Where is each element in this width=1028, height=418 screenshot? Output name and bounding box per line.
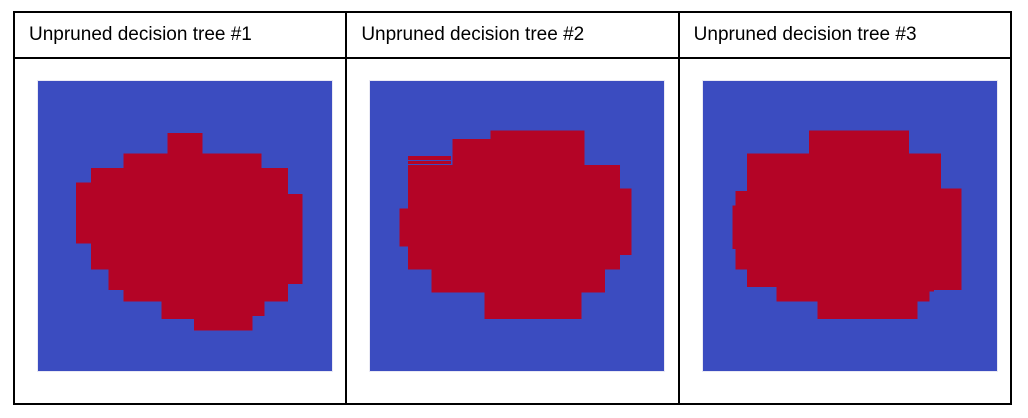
table-row — [14, 58, 1011, 404]
plot-canvas-3 — [703, 81, 997, 371]
column-header-tree-1: Unpruned decision tree #1 — [14, 12, 346, 58]
decision-boundary-plot-1 — [37, 80, 333, 372]
column-header-tree-3: Unpruned decision tree #3 — [679, 12, 1011, 58]
table-header: Unpruned decision tree #1 Unpruned decis… — [14, 12, 1011, 58]
decision-region-svg-1 — [38, 81, 332, 371]
decision-boundary-plot-2 — [369, 80, 665, 372]
table-header-row: Unpruned decision tree #1 Unpruned decis… — [14, 12, 1011, 58]
table-body — [14, 58, 1011, 404]
overfit-sliver-region — [409, 161, 452, 164]
figure-root: Unpruned decision tree #1 Unpruned decis… — [0, 0, 1028, 418]
plot-cell-tree-3 — [679, 58, 1011, 404]
plot-container-tree-2 — [347, 59, 677, 401]
plot-cell-tree-1 — [14, 58, 346, 404]
column-header-tree-2: Unpruned decision tree #2 — [346, 12, 678, 58]
decision-region-svg-2 — [370, 81, 664, 371]
decision-tree-comparison-table: Unpruned decision tree #1 Unpruned decis… — [13, 11, 1012, 405]
plot-container-tree-3 — [680, 59, 1010, 401]
overfit-sliver-region — [409, 156, 452, 160]
plot-canvas-1 — [38, 81, 332, 371]
plot-cell-tree-2 — [346, 58, 678, 404]
plot-container-tree-1 — [15, 59, 345, 401]
plot-canvas-2 — [370, 81, 664, 371]
overfit-sliver-region — [916, 287, 934, 291]
decision-boundary-plot-3 — [702, 80, 998, 372]
decision-region-svg-3 — [703, 81, 997, 371]
